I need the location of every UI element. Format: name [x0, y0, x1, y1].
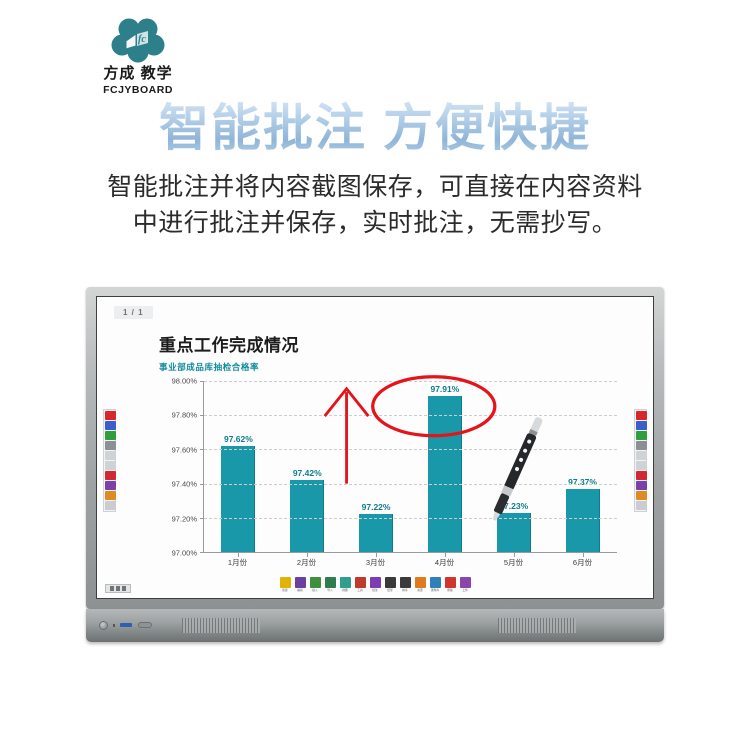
x-axis-tick-label: 2月份: [272, 553, 341, 570]
page-indicator: 1 / 1: [114, 306, 153, 319]
side-toolbar-right[interactable]: [634, 409, 647, 512]
exit-button[interactable]: 上传: [459, 577, 471, 592]
power-button[interactable]: [99, 621, 108, 630]
bar: [359, 514, 393, 552]
gridline: [204, 484, 617, 485]
highlighter-tool-icon[interactable]: [105, 421, 116, 430]
list-icon: [385, 577, 396, 588]
exit-icon: [460, 577, 471, 588]
y-axis-tick-label: 97.80%: [172, 411, 197, 420]
y-axis-tick-label: 97.20%: [172, 514, 197, 523]
toolbar-item-label: 资源: [415, 589, 426, 592]
pen-tool-icon[interactable]: [105, 411, 116, 420]
corner-dot: [110, 586, 114, 591]
bar-slot: 97.42%: [273, 381, 342, 552]
toolbar-item-label: 导入: [325, 589, 336, 592]
shapes-tool-icon[interactable]: [636, 481, 647, 490]
speaker-grille-right: [498, 618, 576, 633]
y-axis-tick: [200, 381, 204, 382]
new-page-icon: [280, 577, 291, 588]
shapes-tool-icon[interactable]: [105, 481, 116, 490]
ir-receiver: [120, 623, 132, 627]
chart-title: 重点工作完成情况: [159, 331, 617, 356]
corner-dot: [122, 586, 126, 591]
side-toolbar-left[interactable]: [103, 409, 116, 512]
eraser-tool-icon[interactable]: [636, 441, 647, 450]
x-axis-tick-label: 3月份: [341, 553, 410, 570]
toolbar-item-label: 纸型: [385, 589, 396, 592]
screen-corner-widget[interactable]: [105, 584, 131, 593]
library-button[interactable]: 课件库: [429, 577, 441, 592]
brand-name-cn: 方成 教学: [78, 66, 198, 83]
highlighter-tool-icon[interactable]: [636, 421, 647, 430]
help-button[interactable]: 帮助: [444, 577, 456, 592]
gallery-button[interactable]: 资源: [414, 577, 426, 592]
gridline: [204, 518, 617, 519]
bar-slot: 97.22%: [342, 381, 411, 552]
x-axis-tick-label: 6月份: [548, 553, 617, 570]
undo-tool-icon[interactable]: [105, 451, 116, 460]
bar-value-label: 97.42%: [293, 468, 322, 478]
more-tool-icon[interactable]: [636, 501, 647, 510]
display-bezel: 1 / 1 重点工作完成情况 事业部成品库抽检合格率 98.00%97.80%9…: [86, 287, 664, 609]
edit-button[interactable]: 编辑: [294, 577, 306, 592]
chart-plot-area: 98.00%97.80%97.60%97.40%97.20%97.00% 97.…: [159, 381, 617, 570]
corner-dot: [116, 586, 120, 591]
svg-text:fc: fc: [138, 34, 146, 45]
bar-value-label: 97.91%: [430, 384, 459, 394]
save-tool-icon[interactable]: [105, 491, 116, 500]
toolbar-item-label: 编辑: [295, 589, 306, 592]
y-axis-tick: [200, 449, 204, 450]
edit-icon: [295, 577, 306, 588]
help-icon: [445, 577, 456, 588]
bar-slot: 97.37%: [548, 381, 617, 552]
bar-series: 97.62%97.42%97.22%97.91%97.23%97.37%: [204, 381, 617, 552]
display-screen[interactable]: 1 / 1 重点工作完成情况 事业部成品库抽检合格率 98.00%97.80%9…: [96, 296, 654, 599]
insert-button[interactable]: 插入: [309, 577, 321, 592]
library-icon: [430, 577, 441, 588]
gallery-icon: [415, 577, 426, 588]
y-axis-tick: [200, 484, 204, 485]
tools-button[interactable]: 工具: [354, 577, 366, 592]
bar: [566, 489, 600, 552]
y-axis-tick-label: 97.40%: [172, 480, 197, 489]
page-title: 智能批注 方便快捷: [0, 88, 750, 160]
interactive-whiteboard: 1 / 1 重点工作完成情况 事业部成品库抽检合格率 98.00%97.80%9…: [86, 287, 664, 642]
toolbar-item-label: 课件库: [430, 589, 441, 592]
x-axis-tick-label: 1月份: [203, 553, 272, 570]
y-axis-tick-label: 97.00%: [172, 549, 197, 558]
palette-tool-icon[interactable]: [636, 431, 647, 440]
speaker-grille-left: [182, 618, 260, 633]
palette-tool-icon[interactable]: [105, 431, 116, 440]
pen-tool-icon[interactable]: [636, 411, 647, 420]
redo-tool-icon[interactable]: [636, 461, 647, 470]
tools-icon: [355, 577, 366, 588]
x-axis-labels: 1月份2月份3月份4月份5月份6月份: [203, 553, 617, 570]
new-page-button[interactable]: 新建: [279, 577, 291, 592]
insert-icon: [310, 577, 321, 588]
x-axis-tick: [376, 553, 377, 557]
delete-tool-icon[interactable]: [105, 471, 116, 480]
eraser-tool-icon[interactable]: [105, 441, 116, 450]
import-button[interactable]: 导入: [324, 577, 336, 592]
gridline: [204, 415, 617, 416]
x-axis-tick-label: 5月份: [479, 553, 548, 570]
delete-tool-icon[interactable]: [636, 471, 647, 480]
view-button[interactable]: 视图: [339, 577, 351, 592]
toolbar-item-label: 工具: [355, 589, 366, 592]
toolbar-item-label: 插入: [310, 589, 321, 592]
status-led: [113, 624, 115, 627]
x-axis-tick: [445, 553, 446, 557]
toolbar-item-label: 帮助: [445, 589, 456, 592]
y-axis-tick-label: 98.00%: [172, 377, 197, 386]
chart-grid: 97.62%97.42%97.22%97.91%97.23%97.37%: [203, 381, 617, 553]
sensor-strip: [138, 622, 152, 628]
bottom-toolbar[interactable]: 新建编辑插入导入视图工具批注纸型排序资源课件库帮助上传: [279, 577, 471, 592]
align-button[interactable]: 排序: [399, 577, 411, 592]
device-chin: [86, 609, 664, 642]
toolbar-item-label: 视图: [340, 589, 351, 592]
page-subtitle: 智能批注并将内容截图保存，可直接在内容资料 中进行批注并保存，实时批注，无需抄写…: [0, 170, 750, 241]
bar-slot: 97.91%: [410, 381, 479, 552]
y-axis-tick: [200, 518, 204, 519]
save-tool-icon[interactable]: [636, 491, 647, 500]
brand-logo: fc 方成 教学 FCJYBOARD: [78, 16, 198, 96]
toolbar-item-label: 上传: [460, 589, 471, 592]
x-axis-tick: [514, 553, 515, 557]
view-icon: [340, 577, 351, 588]
x-axis-tick-label: 4月份: [410, 553, 479, 570]
chart-subtitle: 事业部成品库抽检合格率: [159, 361, 617, 373]
align-icon: [400, 577, 411, 588]
y-axis-tick-label: 97.60%: [172, 445, 197, 454]
x-axis-tick: [307, 553, 308, 557]
bar-slot: 97.62%: [204, 381, 273, 552]
y-axis-tick: [200, 415, 204, 416]
chart-container: 重点工作完成情况 事业部成品库抽检合格率 98.00%97.80%97.60%9…: [159, 331, 617, 570]
gridline: [204, 449, 617, 450]
bar-value-label: 97.37%: [568, 477, 597, 487]
more-tool-icon[interactable]: [105, 501, 116, 510]
toolbar-item-label: 排序: [400, 589, 411, 592]
flower-book-logo-icon: fc: [111, 16, 165, 64]
y-axis-labels: 98.00%97.80%97.60%97.40%97.20%97.00%: [159, 381, 201, 553]
subtitle-line-1: 智能批注并将内容截图保存，可直接在内容资料: [0, 170, 750, 206]
bar-value-label: 97.62%: [224, 434, 253, 444]
bar-value-label: 97.22%: [362, 502, 391, 512]
toolbar-item-label: 新建: [280, 589, 291, 592]
undo-tool-icon[interactable]: [636, 451, 647, 460]
bar: [290, 480, 324, 552]
bar: [428, 396, 462, 552]
subtitle-line-2: 中进行批注并保存，实时批注，无需抄写。: [0, 206, 750, 242]
x-axis-tick: [583, 553, 584, 557]
bar: [221, 446, 255, 552]
redo-tool-icon[interactable]: [105, 461, 116, 470]
x-axis-tick: [238, 553, 239, 557]
toolbar-item-label: 批注: [370, 589, 381, 592]
import-icon: [325, 577, 336, 588]
list-button[interactable]: 纸型: [384, 577, 396, 592]
gridline: [204, 381, 617, 382]
annotate-icon: [370, 577, 381, 588]
annotate-button[interactable]: 批注: [369, 577, 381, 592]
